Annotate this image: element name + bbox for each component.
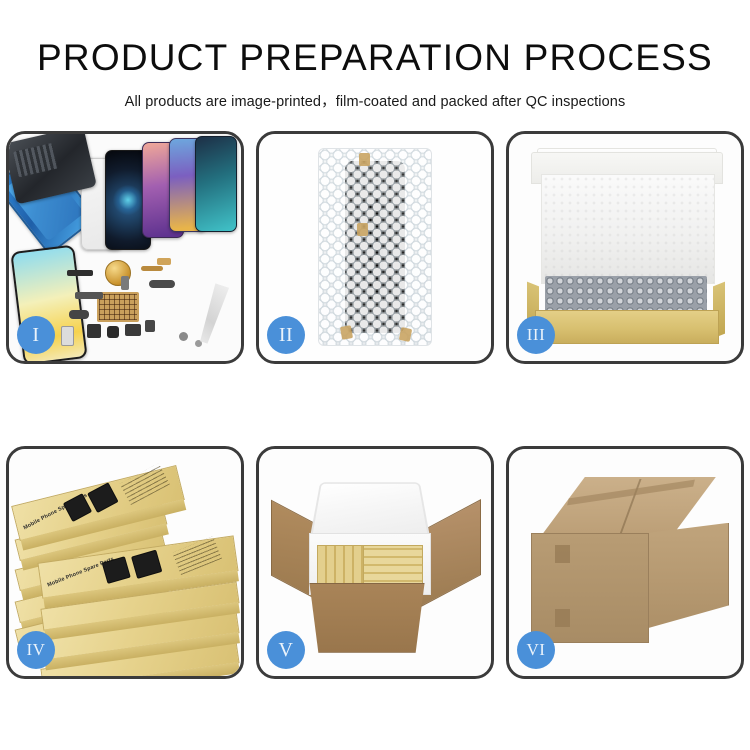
packed-kraft-boxes: [363, 545, 423, 589]
spare-part: [145, 320, 155, 332]
step-panel-4: Mobile Phone Spare Parts Mobile Phone Sp…: [6, 446, 244, 679]
step-badge-6: VI: [517, 631, 555, 669]
spare-part: [141, 266, 163, 271]
step-badge-4: IV: [17, 631, 55, 669]
spare-part: [121, 276, 129, 290]
step-badge-3: III: [517, 316, 555, 354]
spare-part: [67, 270, 93, 276]
step-panel-2: II: [256, 131, 494, 364]
phone-display-teal: [195, 136, 237, 232]
tape-piece: [359, 153, 370, 166]
step-badge-2: II: [267, 316, 305, 354]
step-badge-1: I: [17, 316, 55, 354]
box-front-wall: [535, 310, 719, 344]
tape-piece: [340, 325, 353, 340]
spare-part: [61, 326, 74, 346]
product-preparation-infographic: PRODUCT PREPARATION PROCESS All products…: [0, 0, 750, 750]
step-panel-5: V: [256, 446, 494, 679]
connector-grid-part: [97, 292, 139, 322]
page-subtitle: All products are image-printed，film-coat…: [0, 90, 750, 111]
step-panel-1: I: [6, 131, 244, 364]
page-title: PRODUCT PREPARATION PROCESS: [0, 38, 750, 79]
spare-part: [179, 332, 188, 341]
bubble-texture: [319, 149, 431, 345]
process-steps-grid: I II: [5, 131, 745, 679]
step-panel-6: VI: [506, 446, 744, 679]
spare-part: [87, 324, 101, 338]
step-panel-3: III: [506, 131, 744, 364]
bubble-wrapped-items: [545, 276, 707, 312]
spare-part: [69, 310, 89, 319]
header: PRODUCT PREPARATION PROCESS All products…: [0, 0, 750, 111]
step-badge-5: V: [267, 631, 305, 669]
carton-tape-mark: [555, 545, 570, 563]
spare-part: [75, 292, 103, 299]
spare-part: [107, 326, 119, 338]
carton-front-face: [531, 533, 649, 643]
tape-piece: [357, 223, 368, 236]
carton-front-wall: [303, 583, 431, 653]
bubble-wrap-bag: [318, 148, 432, 346]
foam-sheet: [541, 174, 715, 284]
spare-part: [149, 280, 175, 288]
carton-tape-mark: [555, 609, 570, 627]
spare-part: [157, 258, 171, 265]
spare-part: [125, 324, 141, 336]
